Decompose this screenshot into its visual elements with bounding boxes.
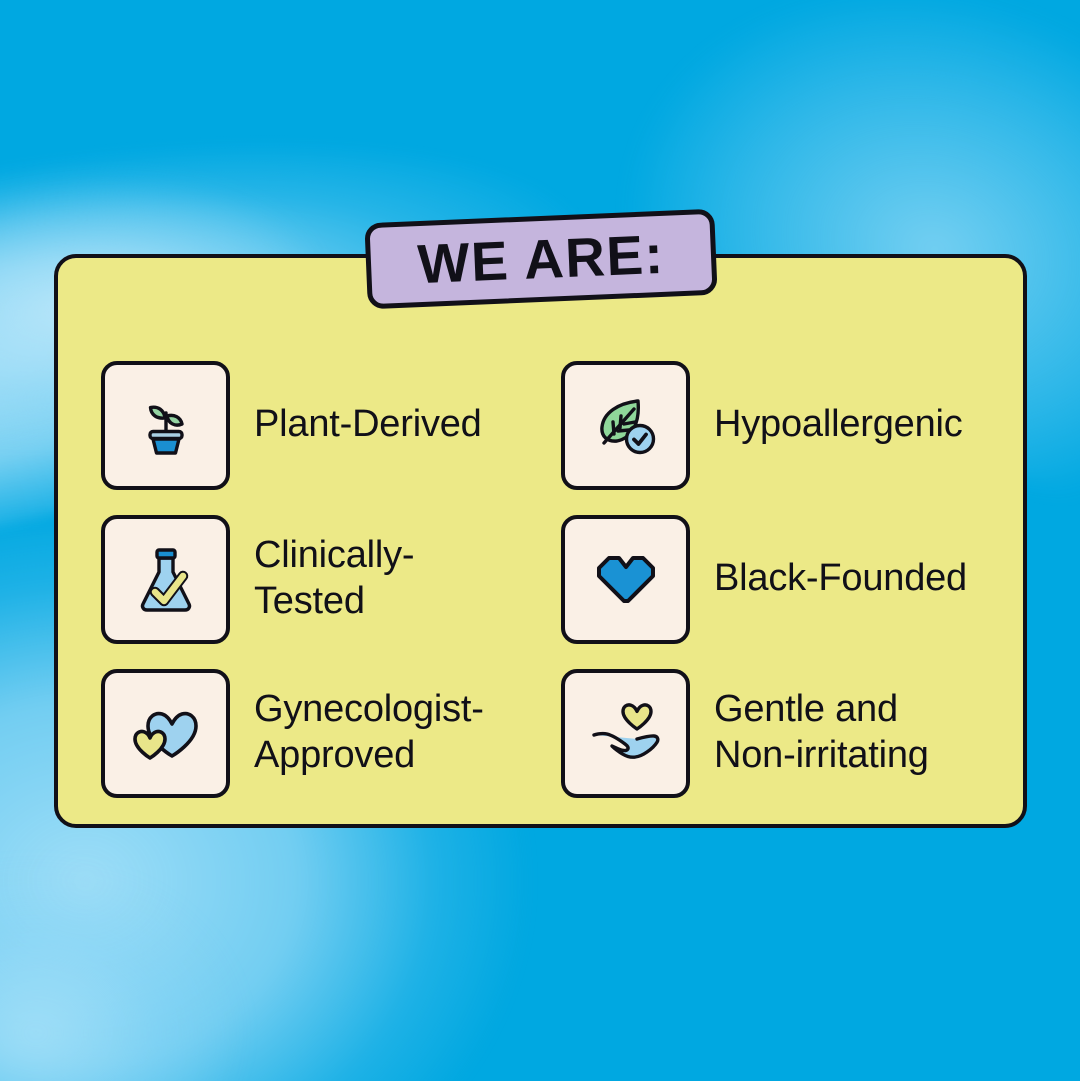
feature-label-black-founded: Black-Founded — [714, 556, 967, 602]
geometric-heart-icon — [587, 548, 665, 610]
feature-label-gentle-non-irritating: Gentle and Non-irritating — [714, 687, 929, 778]
flask-check-icon — [131, 542, 201, 616]
feature-item-black-founded: Black-Founded — [561, 502, 1001, 656]
potted-plant-icon — [130, 389, 202, 461]
feature-label-gynecologist-approved: Gynecologist- Approved — [254, 687, 484, 778]
feature-item-gynecologist-approved: Gynecologist- Approved — [101, 656, 561, 810]
feature-item-clinically-tested: Clinically- Tested — [101, 502, 561, 656]
feature-label-hypoallergenic: Hypoallergenic — [714, 402, 963, 448]
double-hearts-icon — [126, 702, 206, 764]
feature-grid: Plant-Derived — [101, 348, 1001, 810]
leaf-check-icon — [588, 389, 664, 461]
icon-tile-clinically-tested — [101, 515, 230, 644]
value-card: Plant-Derived — [54, 254, 1027, 828]
poster-canvas: Plant-Derived — [0, 0, 1080, 1081]
icon-tile-gentle-non-irritating — [561, 669, 690, 798]
icon-tile-hypoallergenic — [561, 361, 690, 490]
icon-tile-plant-derived — [101, 361, 230, 490]
icon-tile-gynecologist-approved — [101, 669, 230, 798]
feature-item-hypoallergenic: Hypoallergenic — [561, 348, 1001, 502]
hand-heart-icon — [585, 699, 667, 767]
page-title: WE ARE: — [417, 226, 666, 291]
feature-label-plant-derived: Plant-Derived — [254, 402, 482, 448]
header-badge: WE ARE: — [364, 209, 717, 310]
icon-tile-black-founded — [561, 515, 690, 644]
feature-item-gentle-non-irritating: Gentle and Non-irritating — [561, 656, 1001, 810]
feature-item-plant-derived: Plant-Derived — [101, 348, 561, 502]
feature-label-clinically-tested: Clinically- Tested — [254, 533, 414, 624]
